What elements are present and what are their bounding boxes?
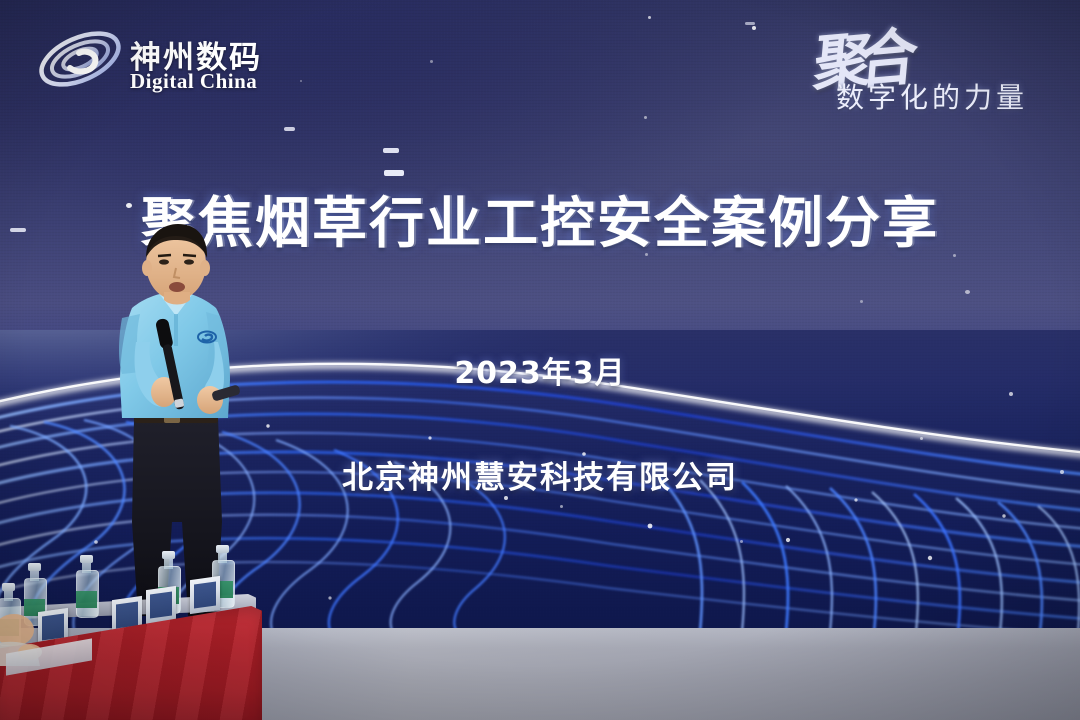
name-card: [146, 586, 176, 624]
stage-photo: 神州数码 Digital China 聚合 数字化的力量 聚焦烟草行业工控安全案…: [0, 0, 1080, 720]
digital-china-logo: 神州数码 Digital China: [34, 14, 314, 106]
juhe-brand-logo: 聚合 数字化的力量: [812, 16, 1068, 110]
digital-china-swirl-icon: [34, 16, 126, 102]
digital-china-english-name: Digital China: [130, 69, 257, 94]
juhe-subtitle: 数字化的力量: [836, 76, 1028, 116]
name-card: [190, 576, 220, 614]
water-bottle: [76, 556, 97, 618]
